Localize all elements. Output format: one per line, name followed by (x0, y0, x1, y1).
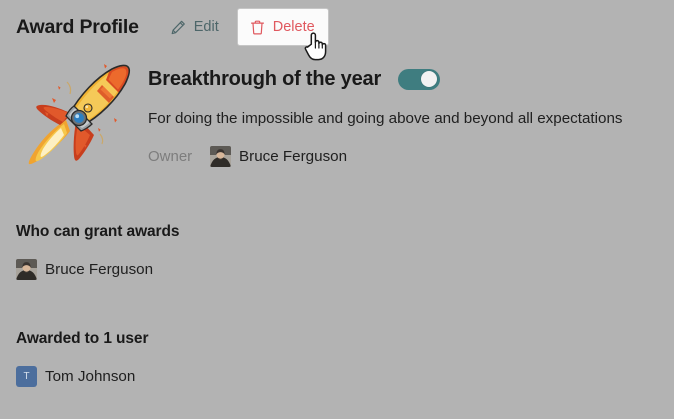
award-details: Breakthrough of the year For doing the i… (148, 54, 674, 170)
person-name: Bruce Ferguson (45, 260, 153, 280)
owner-name: Bruce Ferguson (239, 147, 347, 167)
avatar (16, 259, 37, 280)
award-owner-row: Owner Bruce Ferguson (148, 146, 674, 167)
delete-button-label: Delete (273, 18, 315, 36)
avatar (210, 146, 231, 167)
toggle-knob (421, 71, 437, 87)
owner-label: Owner (148, 147, 210, 167)
edit-button-label: Edit (194, 18, 219, 36)
avatar: T (16, 366, 37, 387)
page-title: Award Profile (16, 15, 139, 39)
grant-awards-title: Who can grant awards (16, 222, 674, 242)
list-item[interactable]: Bruce Ferguson (16, 259, 674, 280)
pencil-icon (170, 19, 187, 36)
command-header: Award Profile Edit Delete (0, 0, 674, 40)
awarded-to-title: Awarded to 1 user (16, 329, 674, 349)
award-title-row: Breakthrough of the year (148, 66, 674, 92)
award-hero: Breakthrough of the year For doing the i… (0, 40, 674, 170)
award-enabled-toggle[interactable] (398, 69, 440, 90)
command-bar: Edit Delete (161, 9, 328, 45)
award-name: Breakthrough of the year (148, 66, 381, 92)
list-item[interactable]: T Tom Johnson (16, 366, 674, 387)
trash-icon (249, 19, 266, 36)
award-description: For doing the impossible and going above… (148, 108, 674, 129)
grant-awards-section: Who can grant awards Bruce Ferguson (0, 222, 674, 280)
awarded-to-section: Awarded to 1 user T Tom Johnson (0, 329, 674, 387)
person-name: Tom Johnson (45, 367, 135, 387)
rocket-illustration (8, 54, 148, 170)
delete-button[interactable]: Delete (238, 9, 328, 45)
owner-person[interactable]: Bruce Ferguson (210, 146, 347, 167)
edit-button[interactable]: Edit (161, 11, 230, 43)
